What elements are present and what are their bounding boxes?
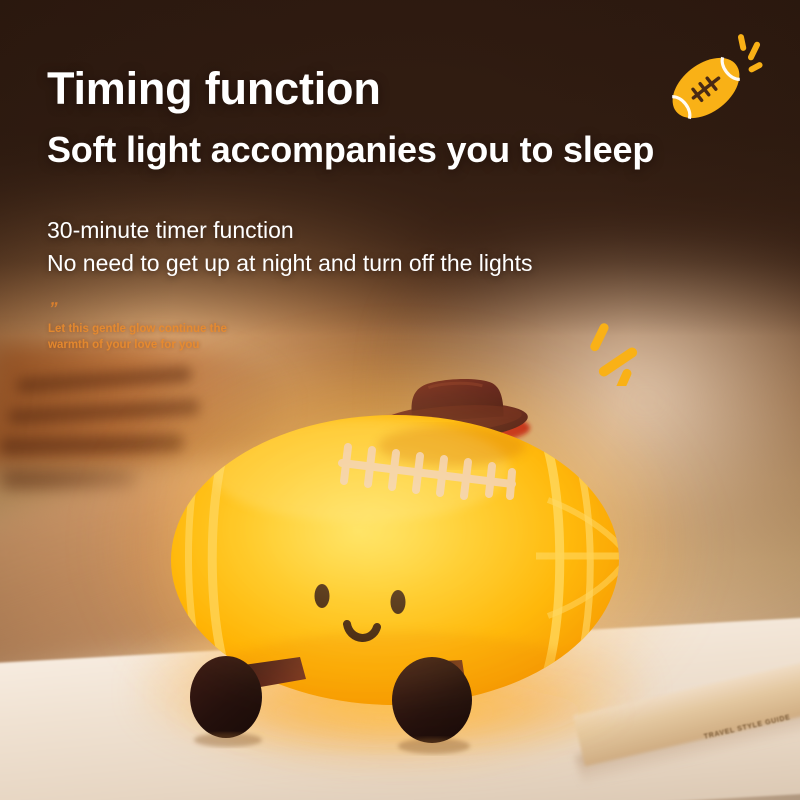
product-poster: TRAVEL STYLE GUIDE <box>0 0 800 800</box>
quote-line-2: warmth of your love for you <box>48 337 227 353</box>
sparkle-dash-top <box>589 322 610 353</box>
body-copy: 30-minute timer function No need to get … <box>47 214 532 281</box>
spark-line <box>747 41 761 62</box>
sparkle-dash-bottom <box>614 367 633 386</box>
product-bloom-overlay <box>160 368 656 704</box>
subheadline: Soft light accompanies you to sleep <box>47 132 654 168</box>
body-line-1: 30-minute timer function <box>47 214 532 247</box>
spark-line <box>748 61 764 73</box>
sparkle-dash-middle <box>597 346 639 379</box>
spark-line <box>737 34 746 52</box>
headline: Timing function <box>47 66 381 111</box>
football-icon-body <box>661 46 750 131</box>
quote-copy: Let this gentle glow continue the warmth… <box>48 321 227 354</box>
quote-line-1: Let this gentle glow continue the <box>48 321 227 337</box>
football-icon <box>654 28 764 138</box>
spark-lines-icon <box>737 34 763 74</box>
body-line-2: No need to get up at night and turn off … <box>47 247 532 280</box>
sparkle-icon <box>589 316 661 386</box>
